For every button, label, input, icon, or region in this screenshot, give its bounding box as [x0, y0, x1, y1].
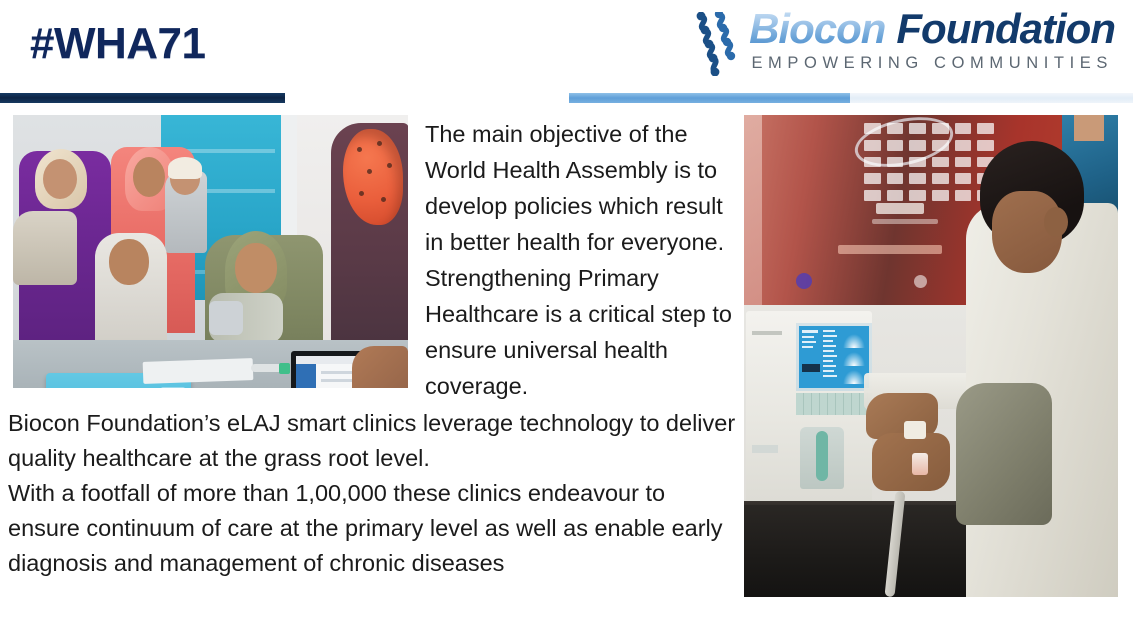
lab-banner-text-line	[872, 219, 938, 224]
lab-analyzer-keypad	[796, 393, 872, 415]
lab-banner-dot-grid	[864, 123, 994, 201]
divider-segment-medium-blue	[285, 93, 569, 103]
divider-segment-light-blue	[569, 93, 850, 103]
clinic-infant-left	[13, 211, 77, 285]
lab-technician-ear	[1044, 207, 1068, 237]
lab-technician-hand-holding-sample	[872, 433, 950, 491]
lab-analyzer-probe	[816, 431, 828, 481]
clinic-blood-pressure-cuff	[209, 301, 243, 335]
lab-sample-vial	[904, 421, 926, 439]
body-paragraph-line-2: With a footfall of more than 1,00,000 th…	[8, 476, 738, 581]
lab-analyzer-screen-content	[799, 326, 869, 388]
body-paragraph-line-1: Biocon Foundation’s eLAJ smart clinics l…	[8, 406, 738, 476]
divider-segment-pale-blue	[850, 93, 1133, 103]
clinic-patient-face	[235, 243, 277, 293]
clinic-child-face	[109, 239, 149, 285]
lab-banner-text-line	[838, 245, 942, 254]
divider-segment-dark-navy	[0, 93, 285, 103]
logo-brand-foundation: Foundation	[896, 8, 1115, 50]
biocon-foundation-logo: Biocon Foundation EMPOWERING COMMUNITIES	[691, 8, 1115, 86]
clinic-sample-tube-cap	[279, 363, 290, 374]
lab-banner-emblem	[796, 273, 812, 289]
lab-banner-text-line	[876, 203, 924, 214]
lab-background-person-head	[1074, 115, 1104, 141]
lab-banner-emblem-secondary	[914, 275, 927, 288]
clinic-operator-hand	[352, 346, 408, 388]
clinic-woman-purple-face	[43, 159, 77, 199]
header-divider-bar	[0, 93, 1133, 103]
logo-brand-biocon: Biocon	[749, 8, 885, 50]
lab-analyzer-printer-slot	[752, 445, 778, 453]
lab-analyzer-model-label	[752, 331, 782, 335]
slide-canvas: #WHA71 Biocon Foundation EMPOWER	[0, 0, 1133, 640]
biocon-molecular-chain-icon	[691, 12, 743, 76]
slide-header: #WHA71 Biocon Foundation EMPOWER	[0, 0, 1133, 92]
body-paragraphs: Biocon Foundation’s eLAJ smart clinics l…	[8, 406, 738, 581]
clinic-paper-form	[143, 358, 254, 384]
logo-tagline: EMPOWERING COMMUNITIES	[751, 54, 1113, 73]
lab-blood-sample-tube	[912, 453, 928, 475]
clinic-laptop-app-sidebar	[296, 364, 316, 388]
clinic-photo	[13, 115, 408, 388]
lab-technician-sleeve	[956, 383, 1052, 525]
logo-wordmark: Biocon Foundation EMPOWERING COMMUNITIES	[749, 8, 1115, 73]
objective-paragraph: The main objective of the World Health A…	[425, 116, 733, 404]
clinic-infant-right-cap	[168, 157, 202, 179]
lab-photo	[744, 115, 1118, 597]
clinic-woman-coral-face	[133, 157, 165, 197]
lab-wall-edge-strip	[744, 115, 762, 305]
page-title: #WHA71	[30, 22, 206, 66]
clinic-device-keypad	[161, 387, 185, 388]
